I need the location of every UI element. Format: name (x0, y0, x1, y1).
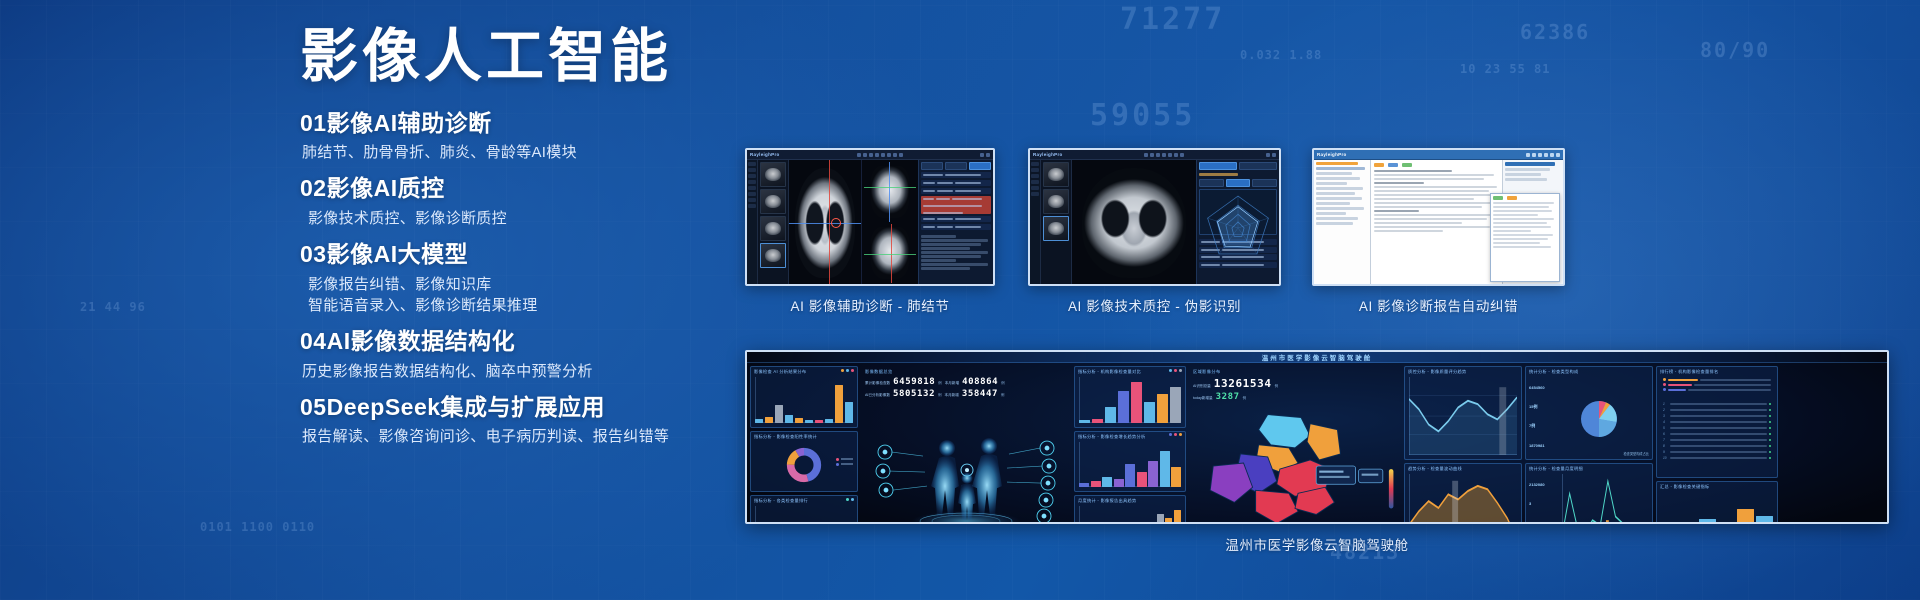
dashboard-card-c11[interactable]: 排行榜 - 机构影像检查量排名 1 2 3 4 (1656, 366, 1778, 478)
viewer-body-1 (747, 160, 993, 285)
rail-button[interactable] (1031, 168, 1039, 172)
dashboard-map-panel: 区域影像分布 AI识别总量 13261534 例 today新增量 3287 例 (1189, 366, 1401, 524)
line-chart-svg (1562, 474, 1648, 524)
screenshot-image-1: RayleighPro (745, 148, 995, 286)
card-title: 汇总 - 影像检查关键指标 (1657, 482, 1777, 490)
chart-area (1079, 506, 1181, 524)
card-title: 指标分析 - 各类检查量排行 (751, 496, 857, 504)
report-editor-body (1314, 160, 1563, 285)
finding-row-alert[interactable] (921, 196, 991, 214)
pie-chart-svg (1578, 398, 1620, 440)
toolbar-icon[interactable] (893, 153, 897, 157)
dashboard-col-pie: 统计分析 - 检查类型构成 6454560 15例 7例 1870981 (1525, 366, 1653, 524)
minimize-icon[interactable] (1266, 153, 1270, 157)
minimize-icon[interactable] (980, 153, 984, 157)
dashboard-col-mid: 指标分析 - 机构影像检查量对比 (1074, 366, 1186, 524)
panel-button[interactable] (945, 162, 967, 170)
screenshot-card-3: RayleighPro (1312, 148, 1565, 315)
screenshot-image-3: RayleighPro (1312, 148, 1565, 286)
toolbar-icon[interactable] (1180, 153, 1184, 157)
toolbar-icon[interactable] (887, 153, 891, 157)
qc-tab-row (1199, 162, 1277, 170)
series-thumbnail-list[interactable] (758, 160, 789, 285)
viewer-body-2 (1030, 160, 1279, 285)
region-map-visual[interactable] (1189, 406, 1401, 524)
toolbar-icon[interactable] (875, 153, 879, 157)
toolbar-icon[interactable] (881, 153, 885, 157)
rail-button[interactable] (1031, 186, 1039, 190)
toolbar-icon[interactable] (1538, 153, 1542, 157)
crosshair-vertical (889, 162, 890, 222)
screenshot-image-2: RayleighPro (1028, 148, 1281, 286)
kpi-sub-unit: 例 (1001, 392, 1004, 397)
series-thumbnail-selected[interactable] (760, 243, 786, 268)
legend-row (1660, 387, 1774, 392)
kpi-sub-value: 358447 (962, 389, 998, 399)
feature-label-01: 影像AI辅助诊断 (327, 110, 492, 136)
rail-button[interactable] (748, 180, 756, 184)
ct-sagittal-viewport[interactable] (864, 224, 916, 284)
chart-area (1661, 492, 1773, 524)
toolbar-icon[interactable] (857, 153, 861, 157)
dashboard-card-c5[interactable]: 指标分析 - 影像检查增长趋势分析 (1074, 431, 1186, 493)
nodule-marker (831, 218, 841, 228)
rail-button[interactable] (748, 174, 756, 178)
feature-num-02: 02 (300, 175, 327, 201)
qc-radar-chart (1199, 189, 1277, 235)
series-thumbnail[interactable] (1043, 162, 1069, 187)
ct-axial-viewport[interactable] (789, 160, 861, 285)
kpi-unit: 例 (1243, 395, 1246, 400)
kpi-block-map: 区域影像分布 AI识别总量 13261534 例 today新增量 3287 例 (1189, 366, 1401, 406)
crosshair-green (864, 254, 916, 255)
feature-num-01: 01 (300, 110, 327, 136)
card-title: 统计分析 - 检查量月度明细 (1526, 464, 1652, 472)
qc-filter[interactable] (1199, 179, 1224, 187)
card-legend (846, 498, 854, 501)
bar-series (1079, 377, 1181, 423)
feature-num-03: 03 (300, 241, 327, 267)
report-text-block (921, 234, 991, 271)
line-chart-svg (1409, 377, 1517, 455)
toolbar-icon[interactable] (1162, 153, 1166, 157)
banner-root: 71277 59055 62386 80/90 10 23 55 81 0.03… (0, 0, 1920, 600)
donut-chart (784, 445, 824, 485)
feature-label-05: DeepSeek集成与扩展应用 (327, 394, 605, 420)
ct-coronal-image (871, 166, 908, 218)
report-tree-panel[interactable] (1314, 160, 1371, 285)
chart-area (1562, 474, 1648, 524)
toolbar-icon[interactable] (899, 153, 903, 157)
card-title: 排行榜 - 机构影像检查量排名 (1657, 367, 1777, 375)
dashboard-col-human: 影像数据总览 累计影像检查数 6459818 例 本月新增 408864 例 (861, 366, 1071, 524)
dashboard-card-c7[interactable]: 质控分析 - 影像质量评分趋势 (1404, 366, 1522, 460)
ranking-legend (1660, 377, 1774, 392)
card-legend (1169, 433, 1182, 436)
toolbar-icon[interactable] (1544, 153, 1548, 157)
dashboard-col-lines: 质控分析 - 影像质量评分趋势 (1404, 366, 1522, 524)
feature-label-02: 影像AI质控 (327, 175, 445, 201)
kpi-sub-label: 本月新增 (945, 393, 959, 398)
toolbar-icon[interactable] (869, 153, 873, 157)
series-thumbnail[interactable] (760, 162, 786, 187)
card-legend (1169, 369, 1182, 372)
hologram-icon-right-group (1007, 441, 1056, 523)
panel-button-row (921, 162, 991, 170)
card-title: 质控分析 - 影像质量评分趋势 (1405, 367, 1521, 375)
rail-button[interactable] (748, 198, 756, 202)
series-thumbnail[interactable] (1043, 189, 1069, 214)
dashboard-header-title: 温州市医学影像云智脑驾驶舱 (747, 352, 1887, 363)
toolbar-icon[interactable] (1526, 153, 1530, 157)
close-icon[interactable] (986, 153, 990, 157)
kpi-row: 累计影像检查数 6459818 例 本月新增 408864 例 (865, 377, 1067, 387)
kpi-row: today新增量 3287 例 (1193, 392, 1397, 402)
bar-series (1079, 506, 1181, 524)
kpi-unit: 例 (1275, 383, 1278, 388)
dashboard-inner: 温州市医学影像云智脑驾驶舱 影像检查 AI 分析结果分布 (747, 352, 1887, 522)
qc-filter-active[interactable] (1226, 179, 1251, 187)
dashboard-col-table: 排行榜 - 机构影像检查量排名 1 2 3 4 (1656, 366, 1778, 524)
pie-side-stats: 6454560 15例 7例 1870981 (1529, 378, 1563, 455)
qc-filter[interactable] (1252, 179, 1277, 187)
card-title: 统计分析 - 检查类型构成 (1526, 367, 1652, 375)
app-toolbar-3: RayleighPro (1314, 150, 1563, 160)
kpi-label: today新增量 (1193, 396, 1213, 401)
screenshot-card-2: RayleighPro (1028, 148, 1281, 315)
dashboard-card-c2[interactable]: 指标分析 - 影像检查阳性率统计 (750, 431, 858, 493)
feature-label-03: 影像AI大模型 (327, 241, 469, 267)
finding-row[interactable] (921, 188, 991, 194)
page-title: 影像人工智能 (300, 24, 860, 91)
dashboard-card-c4[interactable]: 指标分析 - 机构影像检查量对比 (1074, 366, 1186, 428)
series-thumbnail-selected[interactable] (1043, 216, 1069, 241)
qc-tab-active[interactable] (1199, 162, 1237, 170)
close-icon[interactable] (1272, 153, 1276, 157)
findings-header-row (921, 172, 991, 178)
toolbar-icon[interactable] (1532, 153, 1536, 157)
rail-button[interactable] (748, 192, 756, 196)
dashboard-col-left: 影像检查 AI 分析结果分布 (750, 366, 858, 524)
kpi-section-label: 影像数据总览 (865, 369, 1067, 375)
kpi-value: 6459818 (893, 377, 935, 387)
dashboard-card-c1[interactable]: 影像检查 AI 分析结果分布 (750, 366, 858, 428)
screenshot-caption-3: AI 影像诊断报告自动纠错 (1312, 295, 1565, 315)
close-icon[interactable] (1556, 153, 1560, 157)
series-thumbnail[interactable] (760, 189, 786, 214)
rail-button[interactable] (748, 186, 756, 190)
app-toolbar-1: RayleighPro (747, 150, 993, 160)
kpi-value: 13261534 (1214, 377, 1272, 390)
feature-num-04: 04 (300, 328, 327, 354)
hologram-svg (861, 403, 1071, 524)
ct-axial-image-2 (1082, 168, 1186, 278)
kpi-label: AI识别总量 (1193, 384, 1211, 389)
table-row[interactable]: 10 (1660, 455, 1774, 461)
chart-area (755, 506, 853, 524)
kpi-sub-unit: 例 (1001, 380, 1004, 385)
chart-area (1409, 474, 1517, 524)
report-toolbar (1374, 163, 1499, 167)
donut-legend (836, 458, 853, 466)
ct-sagittal-image (871, 227, 908, 279)
app-logo-1: RayleighPro (750, 152, 780, 157)
screenshot-caption-1: AI 影像辅助诊断 - 肺结节 (745, 295, 995, 315)
screenshot-card-1: RayleighPro (745, 148, 995, 315)
kpi-section-label: 区域影像分布 (1193, 369, 1397, 375)
minimize-icon[interactable] (1550, 153, 1554, 157)
kpi-value: 3287 (1216, 392, 1240, 402)
dashboard-caption: 温州市医学影像云智脑驾驶舱 (745, 534, 1889, 554)
panel-button[interactable] (921, 162, 943, 170)
ai-findings-panel (918, 160, 993, 285)
screenshot-caption-2: AI 影像技术质控 - 伪影识别 (1028, 295, 1281, 315)
app-toolbar-2: RayleighPro (1030, 150, 1279, 160)
dashboard-card-c12[interactable]: 汇总 - 影像检查关键指标 (1656, 481, 1778, 524)
qc-tab[interactable] (1239, 162, 1277, 170)
feature-label-04: AI影像数据结构化 (327, 328, 516, 354)
app-logo-3: RayleighPro (1317, 152, 1347, 157)
kpi-sub-label: 本月新增 (945, 381, 959, 386)
chart-area (1409, 377, 1517, 455)
card-title: 指标分析 - 影像检查阳性率统计 (751, 432, 857, 440)
rail-button[interactable] (748, 168, 756, 172)
toolbar-icon[interactable] (1156, 153, 1160, 157)
crosshair-vertical (891, 224, 892, 284)
dashboard-card-c9[interactable]: 统计分析 - 检查类型构成 6454560 15例 7例 1870981 (1525, 366, 1653, 460)
series-thumbnail[interactable] (760, 216, 786, 241)
popup-toolbar (1493, 196, 1557, 200)
dashboard-hero-panel: 影像数据总览 累计影像检查数 6459818 例 本月新增 408864 例 (861, 366, 1071, 524)
qc-filter-row (1199, 179, 1277, 187)
bar-series (1661, 492, 1773, 524)
toolbar-icon[interactable] (1174, 153, 1178, 157)
tool-rail[interactable] (747, 160, 758, 285)
kpi-value: 5805132 (893, 389, 935, 399)
pie-center-label: 检查类型构成占比 (1624, 451, 1650, 456)
dashboard-card-c8[interactable]: 趋势分析 - 检查量波动曲线 (1404, 463, 1522, 524)
bar-series (755, 506, 853, 524)
dashboard-card-c10[interactable]: 统计分析 - 检查量月度明细 2132080 3 41 279983 (1525, 463, 1653, 524)
feature-title-01: 01影像AI辅助诊断 (300, 109, 860, 138)
kpi-unit: 例 (938, 380, 941, 385)
crosshair-horizontal (789, 223, 861, 224)
correction-popup-panel[interactable] (1490, 193, 1560, 282)
line-side-stats: 2132080 3 41 279983 (1529, 475, 1559, 524)
kpi-row: AI已分析影像数 5805132 例 本月新增 358447 例 (865, 389, 1067, 399)
toolbar-icon[interactable] (1168, 153, 1172, 157)
kpi-block-left: 影像数据总览 累计影像检查数 6459818 例 本月新增 408864 例 (861, 366, 1071, 403)
chart-area (1079, 442, 1181, 488)
ct-axial-viewport-2[interactable] (1072, 160, 1196, 285)
dashboard-col-map: 区域影像分布 AI识别总量 13261534 例 today新增量 3287 例 (1189, 366, 1401, 524)
dashboard-grid: 影像检查 AI 分析结果分布 (747, 363, 1887, 524)
kpi-unit: 例 (938, 392, 941, 397)
ct-secondary-viewports (861, 160, 918, 285)
rail-button[interactable] (1031, 192, 1039, 196)
kpi-label: AI已分析影像数 (865, 393, 890, 398)
finding-row[interactable] (921, 180, 991, 186)
toolbar-icon[interactable] (863, 153, 867, 157)
tool-rail[interactable] (1030, 160, 1041, 285)
kpi-row: AI识别总量 13261534 例 (1193, 377, 1397, 390)
card-title: 趋势分析 - 检查量波动曲线 (1405, 464, 1521, 472)
area-chart-svg (1409, 474, 1517, 524)
card-legend (841, 369, 854, 372)
dashboard-card: 温州市医学影像云智脑驾驶舱 影像检查 AI 分析结果分布 (745, 350, 1889, 554)
kpi-sub-value: 408864 (962, 377, 998, 387)
app-logo-2: RayleighPro (1033, 152, 1063, 157)
crosshair-green (864, 187, 916, 188)
chart-area (1079, 377, 1181, 423)
chart-area (755, 377, 853, 423)
dashboard-screenshot: 温州市医学影像云智脑驾驶舱 影像检查 AI 分析结果分布 (745, 350, 1889, 524)
kpi-label: 累计影像检查数 (865, 381, 890, 386)
rail-button[interactable] (1031, 180, 1039, 184)
radar-chart-svg (1200, 190, 1276, 266)
hologram-human-visual (861, 403, 1071, 524)
rail-button[interactable] (1031, 174, 1039, 178)
region-map-svg (1189, 406, 1401, 524)
dashboard-card-c6[interactable]: 月度统计 - 影像报告出具趋势 (1074, 495, 1186, 524)
report-document-panel[interactable] (1371, 160, 1503, 285)
ct-coronal-viewport[interactable] (864, 162, 916, 222)
bar-series (755, 377, 853, 423)
rail-button[interactable] (748, 204, 756, 208)
hologram-icon-left-group (876, 445, 927, 497)
dashboard-card-c3[interactable]: 指标分析 - 各类检查量排行 (750, 495, 858, 524)
finding-row[interactable] (921, 224, 991, 230)
qc-panel (1196, 160, 1279, 285)
ranking-table[interactable]: 1 2 3 4 5 6 7 8 9 10 (1660, 401, 1774, 474)
card-title: 月度统计 - 影像报告出具趋势 (1075, 496, 1185, 504)
feature-num-05: 05 (300, 394, 327, 420)
rail-button[interactable] (1031, 162, 1039, 166)
panel-button-active[interactable] (969, 162, 991, 170)
toolbar-icon[interactable] (1144, 153, 1148, 157)
toolbar-icon[interactable] (1150, 153, 1154, 157)
finding-row[interactable] (921, 216, 991, 222)
bar-series (1079, 442, 1181, 488)
rail-button[interactable] (748, 162, 756, 166)
series-thumbnail-list[interactable] (1041, 160, 1072, 285)
